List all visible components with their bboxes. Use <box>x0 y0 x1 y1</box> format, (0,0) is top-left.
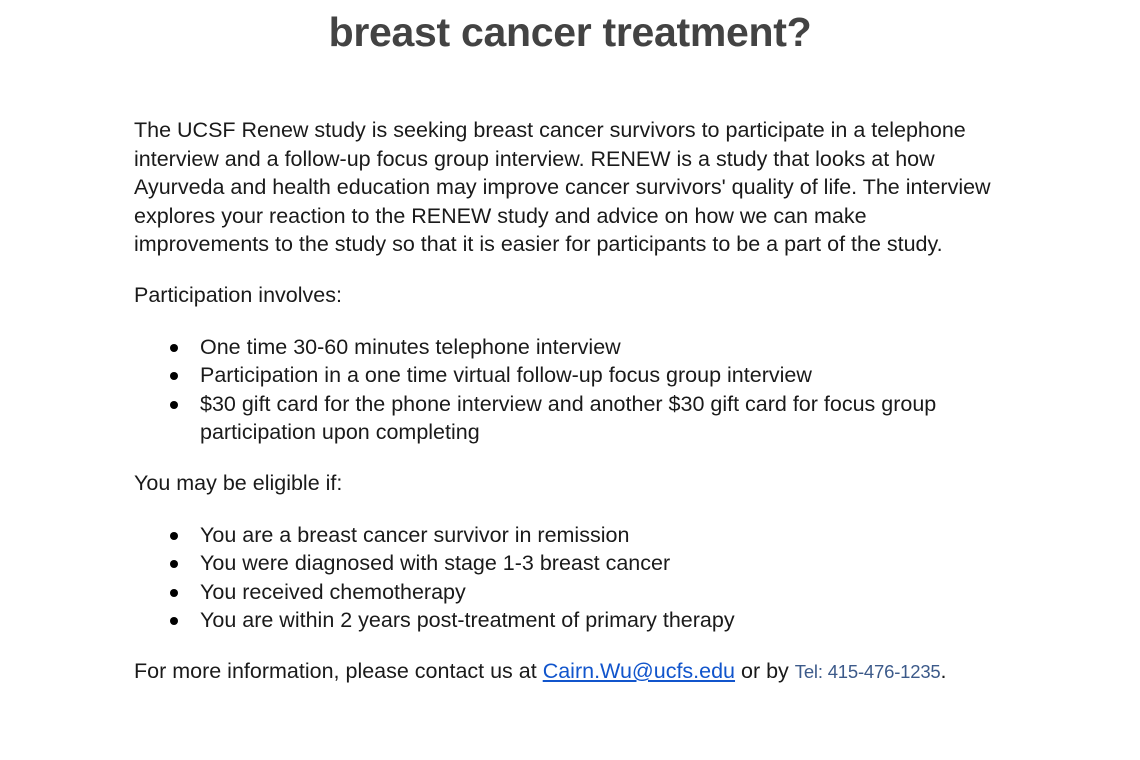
page-title: Are you recovering from breast cancer tr… <box>0 0 1140 60</box>
contact-line: For more information, please contact us … <box>134 657 998 687</box>
spacer <box>134 447 998 469</box>
page-title-line-2: breast cancer treatment? <box>0 4 1140 60</box>
bullet-dot-icon <box>170 589 178 597</box>
contact-email-link[interactable]: Cairn.Wu@ucfs.edu <box>543 659 735 683</box>
contact-telephone: Tel: 415-476-1235 <box>795 661 941 682</box>
bullet-dot-icon <box>170 617 178 625</box>
list-item-label: You are a breast cancer survivor in remi… <box>200 523 629 547</box>
list-item: $30 gift card for the phone interview an… <box>134 390 998 447</box>
list-item: You were diagnosed with stage 1-3 breast… <box>134 549 998 578</box>
bullet-dot-icon <box>170 532 178 540</box>
list-item-label: One time 30-60 minutes telephone intervi… <box>200 335 621 359</box>
bullet-dot-icon <box>170 560 178 568</box>
list-item: Participation in a one time virtual foll… <box>134 361 998 390</box>
eligibility-list: You are a breast cancer survivor in remi… <box>134 521 998 635</box>
list-item: You are within 2 years post-treatment of… <box>134 606 998 635</box>
contact-end-text: . <box>941 659 947 683</box>
list-item-label: You are within 2 years post-treatment of… <box>200 608 735 632</box>
contact-lead-text: For more information, please contact us … <box>134 659 543 683</box>
list-item: You are a breast cancer survivor in remi… <box>134 521 998 550</box>
list-item-label: $30 gift card for the phone interview an… <box>200 392 936 445</box>
list-item: You received chemotherapy <box>134 578 998 607</box>
spacer <box>134 498 998 521</box>
flyer-body: The UCSF Renew study is seeking breast c… <box>134 116 998 687</box>
bullet-dot-icon <box>170 344 178 352</box>
contact-middle-text: or by <box>735 659 795 683</box>
intro-paragraph: The UCSF Renew study is seeking breast c… <box>134 116 998 259</box>
list-item: One time 30-60 minutes telephone intervi… <box>134 333 998 362</box>
spacer <box>134 635 998 657</box>
spacer <box>134 310 998 333</box>
eligibility-heading: You may be eligible if: <box>134 469 998 498</box>
participation-heading: Participation involves: <box>134 281 998 310</box>
bullet-dot-icon <box>170 401 178 409</box>
spacer <box>134 259 998 281</box>
list-item-label: You received chemotherapy <box>200 580 466 604</box>
list-item-label: Participation in a one time virtual foll… <box>200 363 812 387</box>
bullet-dot-icon <box>170 372 178 380</box>
list-item-label: You were diagnosed with stage 1-3 breast… <box>200 551 670 575</box>
participation-list: One time 30-60 minutes telephone intervi… <box>134 333 998 447</box>
